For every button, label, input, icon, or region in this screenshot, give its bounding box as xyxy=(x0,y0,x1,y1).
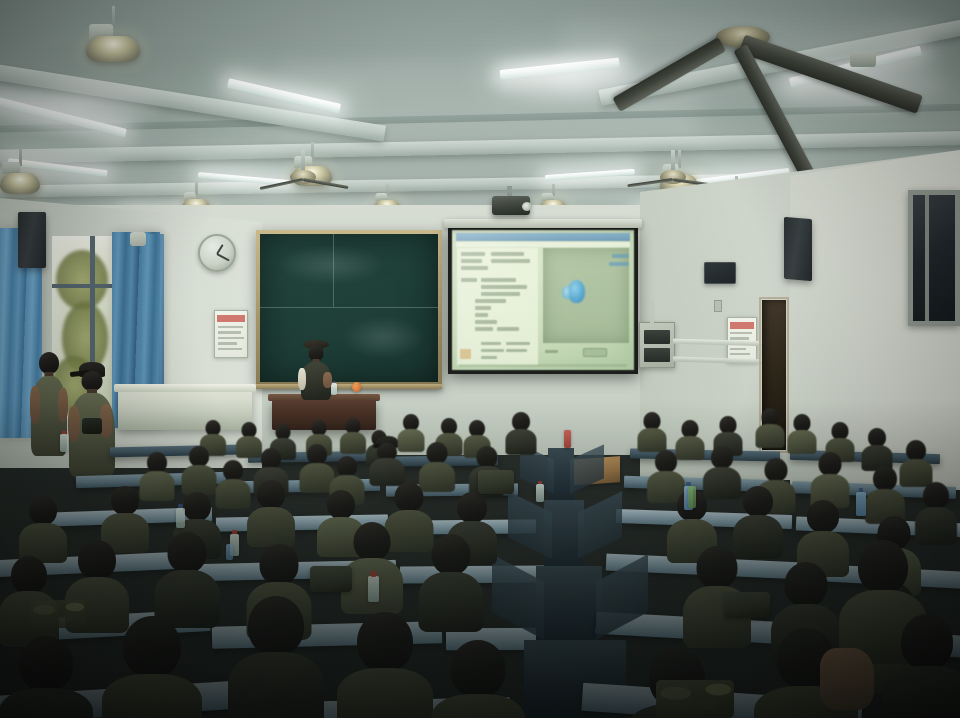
wall-switch xyxy=(714,300,722,312)
student xyxy=(862,428,892,468)
student xyxy=(216,460,250,506)
student xyxy=(734,486,782,552)
water-bottle xyxy=(536,484,544,502)
water-bottle xyxy=(856,492,866,516)
classroom-photo xyxy=(0,0,960,718)
backpack xyxy=(724,592,770,618)
student xyxy=(230,596,322,718)
water-bottle xyxy=(368,576,379,602)
standing-person-with-camera xyxy=(66,362,118,480)
student xyxy=(20,496,66,558)
wall-fixture xyxy=(130,232,146,246)
front-counter xyxy=(118,388,252,430)
backpack xyxy=(310,566,352,592)
student-arm xyxy=(820,648,874,710)
student xyxy=(916,482,956,540)
student xyxy=(638,412,666,450)
lecturer xyxy=(296,340,336,402)
pendant-dome-lamp xyxy=(86,6,140,62)
desk-object xyxy=(352,382,361,392)
student xyxy=(812,452,848,504)
student xyxy=(340,418,366,452)
blackboard xyxy=(256,230,442,386)
fan-mount xyxy=(850,52,876,67)
screen-roller-housing xyxy=(444,219,642,228)
camo-cap xyxy=(30,600,86,628)
student xyxy=(300,444,334,490)
student xyxy=(866,466,904,520)
student xyxy=(884,614,960,718)
water-bottle xyxy=(688,486,696,508)
window xyxy=(908,190,960,326)
ceiling-fan xyxy=(290,150,316,184)
student xyxy=(104,616,200,718)
student xyxy=(756,408,784,446)
pendant-dome-lamp xyxy=(0,148,40,194)
student xyxy=(338,612,432,718)
backpack xyxy=(478,470,514,494)
notice-board xyxy=(214,310,248,358)
projection-screen xyxy=(448,226,638,374)
water-bottle xyxy=(176,508,185,528)
electrical-box xyxy=(639,322,675,368)
water-bottle xyxy=(564,430,571,448)
chalk-tray xyxy=(256,384,442,389)
student xyxy=(0,636,92,718)
student xyxy=(248,480,294,542)
wall-speaker xyxy=(784,217,812,281)
camera xyxy=(82,418,102,434)
student xyxy=(788,414,816,452)
conduit xyxy=(650,300,654,326)
student xyxy=(900,440,932,484)
wall-clock xyxy=(198,234,236,272)
desk-side-panel xyxy=(578,491,622,558)
camo-cap xyxy=(656,680,734,718)
student xyxy=(506,412,536,452)
student xyxy=(182,446,216,492)
student xyxy=(156,532,218,620)
student xyxy=(0,556,58,642)
water-bottle xyxy=(226,544,233,560)
center-aisle xyxy=(536,566,602,646)
student xyxy=(102,486,148,548)
student xyxy=(432,640,524,718)
student-with-cap xyxy=(370,436,404,484)
student xyxy=(420,534,482,624)
tv-panel xyxy=(704,262,736,284)
ceiling-fan xyxy=(660,150,686,184)
counter-edge xyxy=(114,384,256,392)
wall-speaker xyxy=(18,212,46,268)
water-bottle xyxy=(60,434,68,452)
